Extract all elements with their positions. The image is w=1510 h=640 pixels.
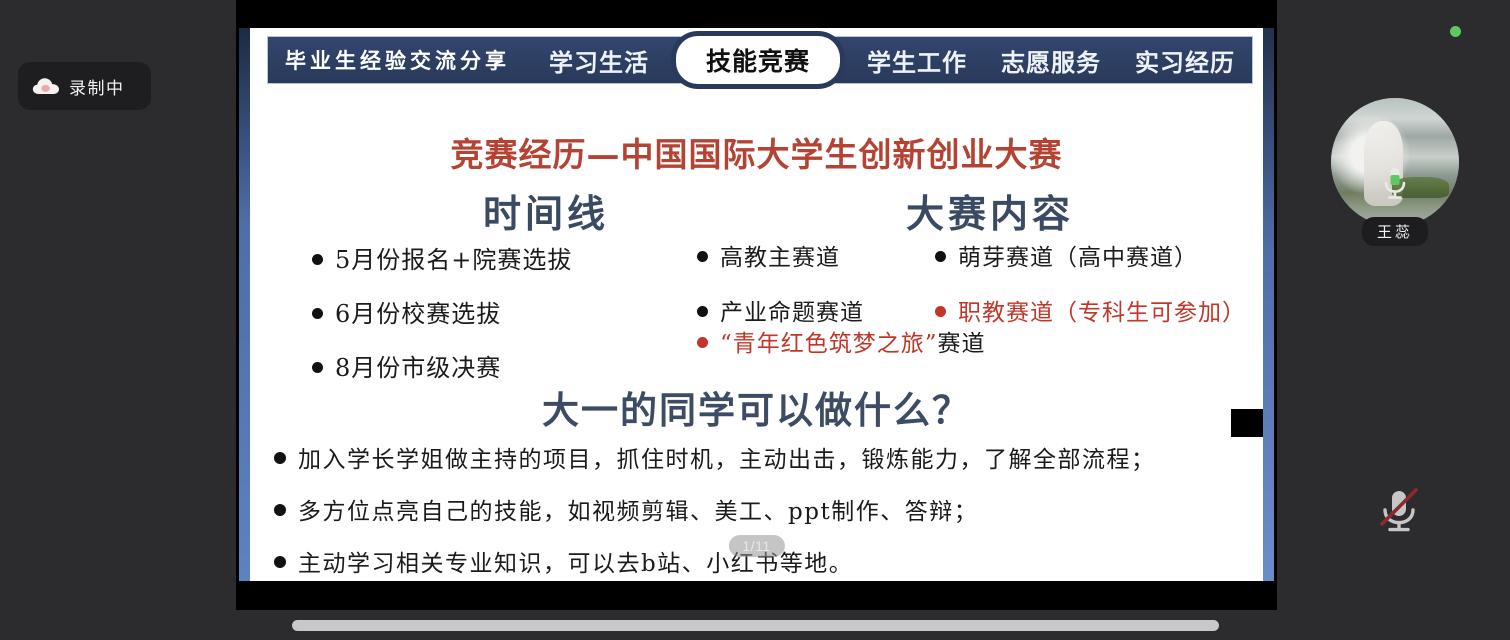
- bottom-bar: [0, 610, 1510, 640]
- slide-rail-right: [1263, 28, 1274, 581]
- bullet-dot-icon: [274, 504, 286, 516]
- nav-item-study-life: 学习生活: [532, 43, 666, 78]
- contest-wide-row: “青年红色筑梦之旅”赛道: [697, 324, 986, 358]
- contest-b-item-1: 萌芽赛道（高中赛道）: [958, 238, 1198, 272]
- screen-artifact-block: [1231, 409, 1263, 437]
- slide-nav-bar: 毕业生经验交流分享 学习生活 技能竞赛 学生工作 志愿服务 实习经历: [267, 36, 1253, 84]
- contest-wide-text-black: 赛道: [938, 331, 986, 357]
- shared-screen-stage[interactable]: 毕业生经验交流分享 学习生活 技能竞赛 学生工作 志愿服务 实习经历 竞赛经历—…: [236, 0, 1277, 610]
- list-item: 8月份市级决赛: [312, 348, 572, 383]
- contest-b-item-2: 职教赛道（专科生可参加）: [958, 293, 1246, 327]
- advice-item-1: 加入学长学姐做主持的项目，抓住时机，主动出击，锻炼能力，了解全部流程；: [298, 440, 1156, 474]
- list-item: 多方位点亮自己的技能，如视频剪辑、美工、ppt制作、答辩；: [274, 492, 1253, 526]
- horizontal-scrollbar[interactable]: [292, 620, 1219, 631]
- question-heading: 大一的同学可以做什么？: [250, 380, 1263, 434]
- nav-item-internship: 实习经历: [1118, 43, 1252, 78]
- contest-a-item-2: 产业命题赛道: [720, 293, 864, 327]
- contest-a-item-1: 高教主赛道: [720, 238, 840, 272]
- bullet-dot-icon: [312, 308, 323, 319]
- heading-contest-content: 大赛内容: [820, 183, 1160, 238]
- scrollbar-thumb[interactable]: [292, 620, 1219, 631]
- timeline-list: 5月份报名+院赛选拔 6月份校赛选拔 8月份市级决赛: [312, 240, 572, 402]
- advice-list: 加入学长学姐做主持的项目，抓住时机，主动出击，锻炼能力，了解全部流程； 多方位点…: [274, 440, 1253, 581]
- list-item: 职教赛道（专科生可参加）: [935, 293, 1246, 327]
- timeline-item-3: 8月份市级决赛: [335, 348, 501, 383]
- list-item: 加入学长学姐做主持的项目，抓住时机，主动出击，锻炼能力，了解全部流程；: [274, 440, 1253, 474]
- bullet-dot-icon: [697, 251, 708, 262]
- contest-wide-text: “青年红色筑梦之旅”赛道: [720, 324, 986, 358]
- participant-name: 王蕊: [1362, 217, 1428, 246]
- avatar: [1331, 98, 1459, 226]
- slide-nav-brand: 毕业生经验交流分享: [285, 45, 510, 75]
- recording-badge[interactable]: 录制中: [18, 62, 151, 110]
- list-item: 产业命题赛道: [697, 293, 864, 327]
- page-indicator: 1/11: [728, 535, 784, 557]
- list-item: 高教主赛道: [697, 238, 864, 272]
- presentation-slide: 毕业生经验交流分享 学习生活 技能竞赛 学生工作 志愿服务 实习经历 竞赛经历—…: [250, 28, 1263, 581]
- bullet-dot-icon: [274, 452, 286, 464]
- heading-timeline: 时间线: [396, 183, 696, 238]
- nav-item-volunteer-service: 志愿服务: [984, 43, 1118, 78]
- list-item: 5月份报名+院赛选拔: [312, 240, 572, 275]
- nav-item-student-work: 学生工作: [850, 43, 984, 78]
- list-item: 萌芽赛道（高中赛道）: [935, 238, 1246, 272]
- timeline-item-1: 5月份报名+院赛选拔: [335, 240, 572, 275]
- bullet-dot-icon: [935, 306, 946, 317]
- participant-tile[interactable]: 王蕊: [1331, 98, 1459, 246]
- recording-label: 录制中: [69, 74, 125, 99]
- cloud-record-icon: [32, 77, 60, 95]
- slide-rail-left: [239, 28, 250, 581]
- contest-wide-text-red: “青年红色筑梦之旅”: [720, 331, 938, 357]
- nav-item-skill-competition: 技能竞赛: [676, 36, 840, 84]
- bullet-dot-icon: [312, 362, 323, 373]
- microphone-muted-icon[interactable]: [1376, 484, 1422, 536]
- list-item: 6月份校赛选拔: [312, 294, 572, 329]
- slide-title: 竞赛经历—中国国际大学生创新创业大赛: [250, 128, 1263, 176]
- slide-nav-items: 学习生活 技能竞赛 学生工作 志愿服务 实习经历: [532, 36, 1252, 84]
- advice-item-2: 多方位点亮自己的技能，如视频剪辑、美工、ppt制作、答辩；: [298, 492, 978, 526]
- bullet-dot-icon: [697, 306, 708, 317]
- status-dot: [1450, 26, 1461, 37]
- meeting-window: 录制中 毕业生经验交流分享 学习生活 技能竞赛 学生工作 志愿服务 实习经历 竞…: [0, 0, 1510, 640]
- bullet-dot-icon: [935, 251, 946, 262]
- bullet-dot-icon: [312, 254, 323, 265]
- list-item: “青年红色筑梦之旅”赛道: [697, 324, 986, 358]
- bullet-dot-icon: [274, 556, 286, 568]
- microphone-active-icon: [1380, 166, 1410, 204]
- bullet-dot-icon: [697, 337, 708, 348]
- timeline-item-2: 6月份校赛选拔: [335, 294, 501, 329]
